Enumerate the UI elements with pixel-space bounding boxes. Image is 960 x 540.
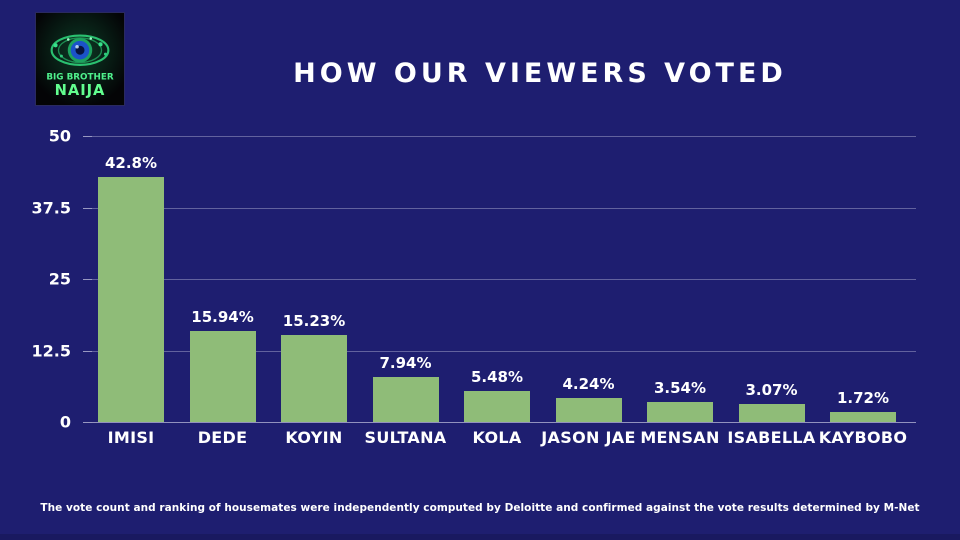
x-axis-category-label: IMISI (108, 428, 155, 447)
gridline (92, 136, 916, 137)
y-axis-tick-label: 0 (60, 413, 71, 432)
bar-value-label: 42.8% (105, 154, 157, 172)
bar-value-label: 4.24% (562, 375, 614, 393)
bar-value-label: 15.94% (191, 308, 253, 326)
x-axis-category-label: KOYIN (285, 428, 342, 447)
y-axis-tick-label: 12.5 (32, 341, 71, 360)
x-axis-category-label: ISABELLA (727, 428, 815, 447)
y-axis-tick (83, 422, 92, 423)
y-axis-tick-label: 37.5 (32, 198, 71, 217)
x-axis-category-label: SULTANA (365, 428, 447, 447)
y-axis-tick (83, 208, 92, 209)
gridline (92, 422, 916, 423)
bar[interactable] (556, 398, 622, 422)
bar[interactable] (190, 331, 256, 422)
y-axis-tick-label: 50 (49, 127, 71, 146)
x-axis-category-label: JASON JAE (541, 428, 635, 447)
x-axis-category-label: DEDE (198, 428, 248, 447)
y-axis-tick (83, 136, 92, 137)
bar[interactable] (464, 391, 530, 422)
bar[interactable] (98, 177, 164, 422)
bar-value-label: 3.07% (745, 381, 797, 399)
bar[interactable] (739, 404, 805, 422)
x-axis-category-label: KOLA (472, 428, 521, 447)
footnote: The vote count and ranking of housemates… (0, 502, 960, 514)
bottom-strip (0, 534, 960, 540)
gridline (92, 208, 916, 209)
x-axis-category-label: MENSAN (640, 428, 719, 447)
bar[interactable] (647, 402, 713, 422)
bar-value-label: 3.54% (654, 379, 706, 397)
bar-chart: 012.52537.550 42.8%IMISI15.94%DEDE15.23%… (0, 0, 960, 540)
bar-value-label: 1.72% (837, 389, 889, 407)
bar[interactable] (373, 377, 439, 422)
bar-value-label: 7.94% (379, 354, 431, 372)
y-axis-tick (83, 279, 92, 280)
bar-value-label: 15.23% (283, 312, 345, 330)
y-axis-tick-label: 25 (49, 270, 71, 289)
x-axis-category-label: KAYBOBO (819, 428, 908, 447)
gridline (92, 279, 916, 280)
bar[interactable] (281, 335, 347, 422)
y-axis-tick (83, 351, 92, 352)
bar-value-label: 5.48% (471, 368, 523, 386)
bar[interactable] (830, 412, 896, 422)
